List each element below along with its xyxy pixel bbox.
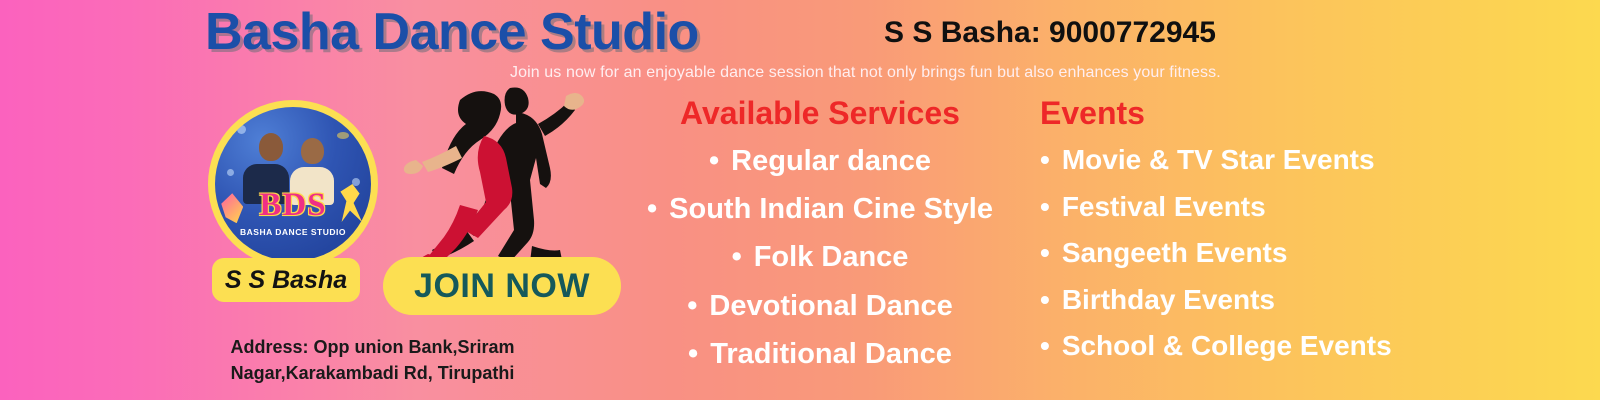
dancing-couple-icon bbox=[398, 82, 593, 282]
owner-name-badge: S S Basha bbox=[212, 258, 360, 302]
tagline: Join us now for an enjoyable dance sessi… bbox=[510, 64, 1221, 82]
logo-photo: BDS BASHA DANCE STUDIO bbox=[215, 107, 371, 261]
list-item: School & College Events bbox=[1012, 323, 1452, 369]
events-list: Movie & TV Star Events Festival Events S… bbox=[1012, 137, 1452, 369]
join-now-button[interactable]: JOIN NOW bbox=[383, 257, 621, 315]
page-title: Basha Dance Studio bbox=[205, 2, 699, 62]
list-item: Folk Dance bbox=[600, 233, 1040, 281]
services-column: Available Services Regular dance South I… bbox=[600, 96, 1040, 378]
list-item: Movie & TV Star Events bbox=[1012, 137, 1452, 183]
address-line-2: Nagar,Karakambadi Rd, Tirupathi bbox=[200, 360, 545, 386]
events-column: Events Movie & TV Star Events Festival E… bbox=[1012, 96, 1452, 370]
address-line-1: Address: Opp union Bank,Sriram bbox=[200, 334, 545, 360]
list-item: Regular dance bbox=[600, 137, 1040, 185]
contact-phone: S S Basha: 9000772945 bbox=[884, 16, 1216, 50]
portrait-right-head bbox=[301, 138, 324, 164]
list-item: Festival Events bbox=[1012, 184, 1452, 230]
services-list: Regular dance South Indian Cine Style Fo… bbox=[600, 137, 1040, 378]
address-block: Address: Opp union Bank,Sriram Nagar,Kar… bbox=[200, 334, 545, 386]
sparkle-icon bbox=[227, 169, 234, 176]
list-item: Birthday Events bbox=[1012, 277, 1452, 323]
portrait-left-head bbox=[259, 133, 283, 161]
list-item: Devotional Dance bbox=[600, 282, 1040, 330]
logo-ring: BDS BASHA DANCE STUDIO bbox=[208, 100, 378, 268]
services-heading: Available Services bbox=[600, 96, 1040, 131]
sparkle-icon bbox=[352, 178, 360, 186]
list-item: South Indian Cine Style bbox=[600, 185, 1040, 233]
logo-mark-subtitle: BASHA DANCE STUDIO bbox=[215, 227, 371, 237]
dancing-couple-illustration bbox=[398, 82, 593, 282]
studio-logo: BDS BASHA DANCE STUDIO bbox=[208, 100, 378, 275]
list-item: Sangeeth Events bbox=[1012, 230, 1452, 276]
sparkle-icon bbox=[337, 132, 349, 139]
owner-name-label: S S Basha bbox=[225, 266, 347, 295]
list-item: Traditional Dance bbox=[600, 330, 1040, 378]
events-heading: Events bbox=[1012, 96, 1452, 131]
logo-mark: BDS bbox=[215, 187, 371, 224]
sparkle-icon bbox=[237, 125, 246, 134]
promo-banner: Basha Dance Studio S S Basha: 9000772945… bbox=[0, 0, 1600, 400]
join-now-label: JOIN NOW bbox=[414, 267, 590, 306]
